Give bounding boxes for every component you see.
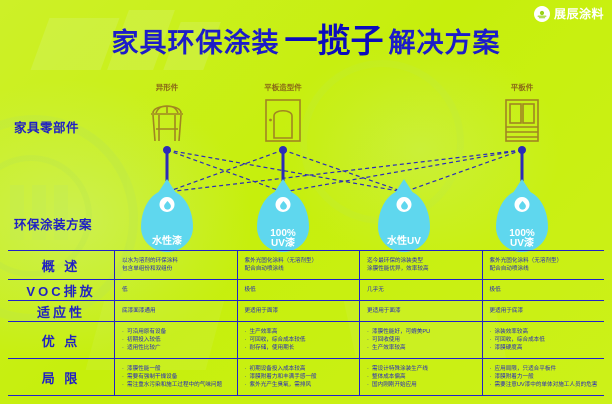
flat-panel-icon bbox=[474, 95, 570, 143]
table-cell: 更适用于底漆 bbox=[483, 301, 605, 321]
table-cell: 几乎无 bbox=[360, 280, 483, 300]
row-label-limitations: 局 限 bbox=[8, 359, 115, 395]
page-title: 家具环保涂装一揽子解决方案 bbox=[0, 14, 612, 62]
part-node-flat-panel[interactable]: 平板件 bbox=[474, 82, 570, 143]
table-cell: 更适用于面漆 bbox=[360, 301, 483, 321]
water-drop-icon bbox=[397, 197, 412, 212]
table-cell: 紫外光固化涂料（无溶剂型） 配合自动喷涂线 bbox=[483, 251, 605, 279]
table-cell: 漆膜性能一般 需要有强制干燥设备 需注重水污染和施工过程中的气味问题 bbox=[115, 359, 238, 395]
table-cell: 极低 bbox=[483, 280, 605, 300]
table-cell: 漆膜性能好，可媲美PU 可回收使用 生产效率较高 bbox=[360, 322, 483, 358]
row-label-overview: 概 述 bbox=[8, 251, 115, 279]
solution-label: 水性UV bbox=[378, 237, 430, 248]
water-drop-icon bbox=[160, 197, 175, 212]
table-cell: 涂装效率较高 可回收，综合成本低 漆膜硬度高 bbox=[483, 322, 605, 358]
table-cell: 紫外光固化涂料（无溶剂型） 配合自动喷涂线 bbox=[238, 251, 361, 279]
water-drop-icon bbox=[276, 197, 291, 212]
solution-label-2: UV漆 bbox=[496, 239, 548, 249]
table-row: VOC排放 低 极低 几乎无 极低 bbox=[8, 279, 604, 300]
brand-logo: 展辰涂料 bbox=[534, 5, 604, 22]
sunrise-circle-icon bbox=[534, 6, 550, 22]
part-label: 平板件 bbox=[474, 82, 570, 93]
table-cell: 需设计特殊涂装生产线 整体成本偏高 国内刚刚开始应用 bbox=[360, 359, 483, 395]
poster-header: 家具环保涂装一揽子解决方案 展辰涂料 bbox=[0, 0, 612, 62]
table-cell: 可沿用原有设备 初期投入较低 适用性比较广 bbox=[115, 322, 238, 358]
table-cell: 底漆面漆通用 bbox=[115, 301, 238, 321]
solution-label-2: UV漆 bbox=[257, 239, 309, 249]
table-cell: 应用局限，只适合平板件 漆膜附着力一般 需要注意UV漆中的单体对施工人员的危害 bbox=[483, 359, 605, 395]
table-cell: 低 bbox=[115, 280, 238, 300]
solution-drop-4[interactable]: 100% UV漆 bbox=[486, 190, 558, 252]
title-prefix: 家具环保涂装 bbox=[112, 28, 280, 58]
part-node-panel-shaped[interactable]: 平板造型件 bbox=[235, 82, 331, 143]
row-label-voc: VOC排放 bbox=[8, 280, 115, 300]
row-label-advantages: 优 点 bbox=[8, 322, 115, 358]
row-label-adaptability: 适应性 bbox=[8, 301, 115, 321]
title-highlight: 一揽子 bbox=[285, 22, 384, 59]
table-row: 局 限 漆膜性能一般 需要有强制干燥设备 需注重水污染和施工过程中的气味问题 初… bbox=[8, 358, 604, 396]
table-cell: 初期设备投入成本较高 漆膜附着力和丰满手感一般 紫外光产生臭氧，需排风 bbox=[238, 359, 361, 395]
brand-name: 展辰涂料 bbox=[554, 5, 604, 22]
infographic-poster: 家具环保涂装一揽子解决方案 展辰涂料 家具零部件 环保涂装方案 bbox=[0, 0, 612, 404]
part-label: 异形件 bbox=[119, 82, 215, 93]
cabinet-door-icon bbox=[235, 95, 331, 143]
title-suffix: 解决方案 bbox=[389, 28, 501, 58]
chair-icon bbox=[119, 95, 215, 143]
table-row: 概 述 以水为溶剂的环保涂料 包含单组份和双组份 紫外光固化涂料（无溶剂型） 配… bbox=[8, 250, 604, 279]
solution-drop-2[interactable]: 100% UV漆 bbox=[247, 190, 319, 252]
solution-drop-1[interactable]: 水性漆 bbox=[131, 190, 203, 252]
solution-diagram: 家具零部件 环保涂装方案 异形件 bbox=[0, 62, 612, 250]
table-cell: 生产效率高 可回收，综合成本较低 耐存储，使用期长 bbox=[238, 322, 361, 358]
part-node-chair[interactable]: 异形件 bbox=[119, 82, 215, 143]
table-cell: 迄今最环保的涂装类型 涂膜性能优异，效率较高 bbox=[360, 251, 483, 279]
table-cell: 更适用于面漆 bbox=[238, 301, 361, 321]
solution-label: 水性漆 bbox=[141, 237, 193, 248]
table-row: 适应性 底漆面漆通用 更适用于面漆 更适用于面漆 更适用于底漆 bbox=[8, 300, 604, 321]
water-drop-icon bbox=[515, 197, 530, 212]
table-cell: 极低 bbox=[238, 280, 361, 300]
solution-drop-3[interactable]: 水性UV bbox=[368, 190, 440, 252]
comparison-table: 概 述 以水为溶剂的环保涂料 包含单组份和双组份 紫外光固化涂料（无溶剂型） 配… bbox=[8, 250, 604, 396]
table-cell: 以水为溶剂的环保涂料 包含单组份和双组份 bbox=[115, 251, 238, 279]
table-row: 优 点 可沿用原有设备 初期投入较低 适用性比较广 生产效率高 可回收，综合成本… bbox=[8, 321, 604, 358]
part-label: 平板造型件 bbox=[235, 82, 331, 93]
